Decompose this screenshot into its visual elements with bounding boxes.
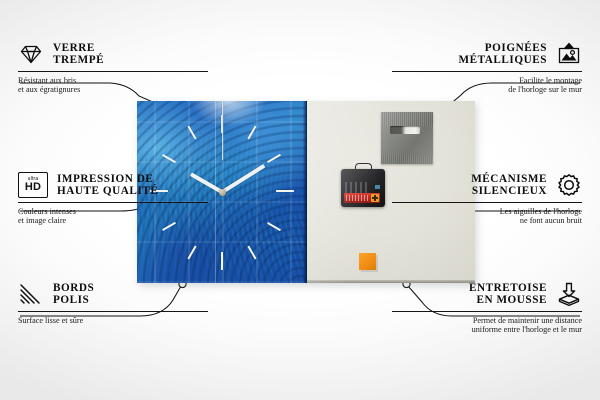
feature-header: BORDS POLIS <box>18 281 208 307</box>
battery <box>344 193 380 203</box>
infographic-canvas: VERRE TREMPÉ Résistant aux bris et aux é… <box>0 0 600 400</box>
battery-label <box>346 195 370 201</box>
feature-description: Surface lisse et sûre <box>18 316 208 326</box>
feature-poignees-metalliques: POIGNÉES MÉTALLIQUES Facilite le montage… <box>392 41 582 95</box>
feature-description: Facilite le montage de l'horloge sur le … <box>392 76 582 95</box>
mechanism-housing <box>341 169 385 207</box>
feature-divider <box>392 202 582 203</box>
mechanism-hook <box>355 163 372 173</box>
mechanism-indicator <box>375 185 380 189</box>
feature-divider <box>18 311 208 312</box>
battery-positive-terminal <box>371 194 379 202</box>
clock-mechanism <box>341 163 385 207</box>
feature-divider <box>392 311 582 312</box>
gear-icon <box>556 172 582 198</box>
feature-mecanisme-silencieux: MÉCANISME SILENCIEUX Les aiguilles de l'… <box>392 172 582 226</box>
arrow-down-onto-pad-icon <box>556 281 582 307</box>
polished-edge-lines-icon <box>18 281 44 307</box>
feature-title: MÉCANISME SILENCIEUX <box>471 173 547 198</box>
hanging-picture-frame-icon <box>556 41 582 67</box>
feature-entretoise-mousse: ENTRETOISE EN MOUSSE Permet de maintenir… <box>392 281 582 335</box>
feature-divider <box>392 71 582 72</box>
mechanism-label <box>345 182 369 194</box>
feature-divider <box>18 71 208 72</box>
feature-description: Permet de maintenir une distance uniform… <box>392 316 582 335</box>
clock-panel-seam <box>215 101 216 283</box>
ultra-hd-badge-icon: ultra HD <box>18 172 48 198</box>
hanger-keyhole-slot <box>390 126 420 134</box>
diamond-icon <box>18 41 44 67</box>
feature-divider <box>18 202 208 203</box>
feature-title: ENTRETOISE EN MOUSSE <box>469 282 547 307</box>
feature-header: VERRE TREMPÉ <box>18 41 208 67</box>
feature-verre-trempe: VERRE TREMPÉ Résistant aux bris et aux é… <box>18 41 208 95</box>
foam-spacer <box>359 253 376 270</box>
feature-title: BORDS POLIS <box>53 282 94 307</box>
feature-description: Couleurs intenses et image claire <box>18 207 208 226</box>
clock-center-cap <box>219 189 226 196</box>
feature-description: Les aiguilles de l'horloge ne font aucun… <box>392 207 582 226</box>
feature-header: ENTRETOISE EN MOUSSE <box>392 281 582 307</box>
feature-bords-polis: BORDS POLIS Surface lisse et sûre <box>18 281 208 325</box>
feature-description: Résistant aux bris et aux égratignures <box>18 76 208 95</box>
feature-header: ultra HD IMPRESSION DE HAUTE QUALITÉ <box>18 172 208 198</box>
feature-title: POIGNÉES MÉTALLIQUES <box>458 42 547 67</box>
feature-header: POIGNÉES MÉTALLIQUES <box>392 41 582 67</box>
feature-impression-hd: ultra HD IMPRESSION DE HAUTE QUALITÉ Cou… <box>18 172 208 226</box>
clock-second-hand <box>222 101 223 160</box>
feature-title: IMPRESSION DE HAUTE QUALITÉ <box>57 173 158 198</box>
feature-title: VERRE TREMPÉ <box>53 42 104 67</box>
hd-badge-main-text: HD <box>25 182 41 193</box>
metal-hanger-plate <box>381 112 433 164</box>
feature-header: MÉCANISME SILENCIEUX <box>392 172 582 198</box>
